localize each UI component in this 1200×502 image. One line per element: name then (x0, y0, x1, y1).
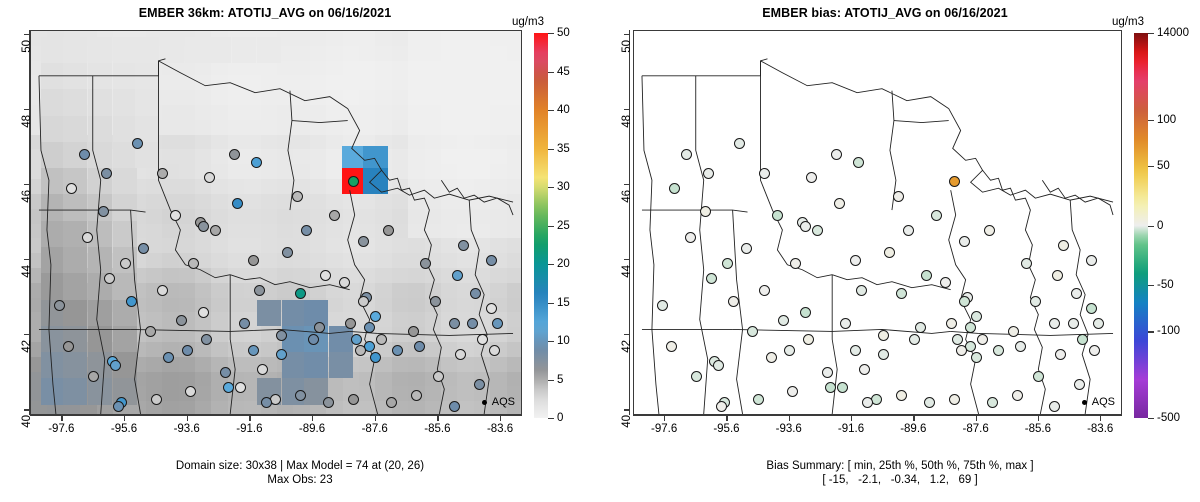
aqs-observation-point (853, 157, 864, 168)
colorbar-tick (548, 187, 554, 188)
bias-caption-line2: [ -15, -2.1, -0.34, 1.2, 69 ] (600, 473, 1200, 487)
aqs-observation-point (1058, 240, 1069, 251)
bias-aqs-label: AQS (1092, 396, 1115, 408)
aqs-observation-point (1086, 255, 1097, 266)
aqs-observation-point (959, 296, 970, 307)
aqs-observation-point (952, 334, 963, 345)
aqs-observation-point (772, 210, 783, 221)
aqs-observation-point (261, 397, 272, 408)
model-caption-line2: Max Obs: 23 (0, 473, 600, 487)
bias-x-axis-line (633, 415, 1122, 416)
aqs-observation-point (856, 285, 867, 296)
aqs-observation-point (408, 326, 419, 337)
y-axis-tick-label: 48 (21, 115, 33, 128)
y-axis-tick-label: 40 (621, 415, 633, 428)
bias-y-axis-line (629, 30, 630, 415)
aqs-observation-point (716, 401, 727, 412)
panel-model-title: EMBER 36km: ATOTIJ_AVG on 06/16/2021 (0, 6, 530, 20)
aqs-observation-point (145, 326, 156, 337)
bias-colorbar-gradient (1134, 33, 1148, 418)
colorbar-tick-label: 50 (1157, 160, 1170, 172)
aqs-observation-point (292, 191, 303, 202)
aqs-observation-point (151, 394, 162, 405)
bias-caption-line1: Bias Summary: [ min, 25th %, 50th %, 75t… (600, 459, 1200, 473)
y-axis-tick (24, 409, 30, 410)
model-map-plot[interactable]: AQS (30, 30, 522, 415)
colorbar-tick (548, 72, 554, 73)
aqs-observation-point (691, 371, 702, 382)
aqs-observation-point (1052, 270, 1063, 281)
model-aqs-legend: AQS (482, 396, 515, 408)
colorbar-tick (548, 264, 554, 265)
model-aqs-label: AQS (492, 396, 515, 408)
aqs-observation-point (949, 176, 960, 187)
y-axis-tick-label: 48 (621, 115, 633, 128)
aqs-observation-point (949, 394, 960, 405)
y-axis-tick (24, 34, 30, 35)
aqs-observation-point (355, 345, 366, 356)
y-axis-tick (24, 184, 30, 185)
colorbar-tick-label: -500 (1157, 412, 1180, 424)
y-axis-tick-label: 42 (621, 340, 633, 353)
aqs-observation-point (120, 258, 131, 269)
aqs-observation-point (766, 352, 777, 363)
x-axis-tick (249, 415, 250, 421)
y-axis-tick-label: 44 (621, 265, 633, 278)
aqs-dot-icon (482, 400, 487, 405)
x-axis-tick (124, 415, 125, 421)
colorbar-tick (1148, 33, 1154, 34)
y-axis-tick-label: 46 (21, 190, 33, 203)
y-axis-tick (624, 334, 630, 335)
colorbar-tick (548, 33, 554, 34)
aqs-observation-point (489, 345, 500, 356)
aqs-observation-point (276, 330, 287, 341)
colorbar-tick-label: 15 (557, 297, 570, 309)
colorbar-tick (548, 418, 554, 419)
aqs-observation-point (248, 255, 259, 266)
aqs-observation-point (276, 349, 287, 360)
y-axis-tick (624, 184, 630, 185)
aqs-observation-point (254, 285, 265, 296)
aqs-observation-point (909, 334, 920, 345)
colorbar-tick (1148, 331, 1154, 332)
aqs-observation-point (822, 367, 833, 378)
aqs-observation-point (82, 232, 93, 243)
colorbar-tick (1148, 120, 1154, 121)
x-axis-tick (976, 415, 977, 421)
x-axis-tick (375, 415, 376, 421)
aqs-observation-point (800, 307, 811, 318)
y-axis-tick-label: 42 (21, 340, 33, 353)
panel-bias: EMBER bias: ATOTIJ_AVG on 06/16/2021 (600, 0, 1200, 502)
aqs-observation-point (977, 334, 988, 345)
aqs-observation-point (308, 334, 319, 345)
x-axis-tick-label: -83.6 (1087, 423, 1113, 435)
aqs-observation-point (110, 360, 121, 371)
bias-aqs-legend: AQS (1082, 396, 1115, 408)
aqs-observation-point (270, 394, 281, 405)
aqs-observation-point (54, 300, 65, 311)
colorbar-tick-label: -100 (1157, 325, 1180, 337)
x-axis-tick (851, 415, 852, 421)
colorbar-tick-label: 35 (557, 143, 570, 155)
aqs-observation-point (778, 315, 789, 326)
aqs-observation-point (329, 210, 340, 221)
aqs-observation-point (803, 334, 814, 345)
aqs-observation-point (411, 390, 422, 401)
y-axis-tick (624, 259, 630, 260)
aqs-observation-point (157, 285, 168, 296)
x-axis-tick-label: -93.6 (776, 423, 802, 435)
aqs-observation-point (666, 341, 677, 352)
aqs-observation-point (430, 296, 441, 307)
colorbar-tick-label: 40 (557, 104, 570, 116)
colorbar-tick-label: 0 (557, 412, 563, 424)
aqs-observation-point (903, 225, 914, 236)
aqs-observation-point (1074, 379, 1085, 390)
aqs-observation-point (251, 157, 262, 168)
colorbar-tick-label: 0 (1157, 220, 1163, 232)
x-axis-tick-label: -85.6 (1025, 423, 1051, 435)
colorbar-tick-label: 45 (557, 66, 570, 78)
y-axis-tick (624, 34, 630, 35)
model-caption-line1: Domain size: 30x38 | Max Model = 74 at (… (0, 459, 600, 473)
y-axis-tick (624, 409, 630, 410)
x-axis-tick-label: -87.6 (963, 423, 989, 435)
colorbar-tick (548, 149, 554, 150)
aqs-observation-point (182, 345, 193, 356)
x-axis-tick (1038, 415, 1039, 421)
colorbar-tick (548, 341, 554, 342)
colorbar-tick-label: 30 (557, 181, 570, 193)
aqs-observation-point (959, 236, 970, 247)
aqs-observation-point (1055, 349, 1066, 360)
aqs-observation-point (198, 307, 209, 318)
aqs-observation-point (1015, 341, 1026, 352)
aqs-observation-point (364, 341, 375, 352)
x-axis-tick (312, 415, 313, 421)
aqs-observation-point (201, 334, 212, 345)
aqs-observation-point (198, 221, 209, 232)
colorbar-tick-label: 5 (557, 374, 563, 386)
x-axis-tick-label: -97.6 (651, 423, 677, 435)
aqs-observation-point (1049, 401, 1060, 412)
bias-map-plot[interactable]: AQS (633, 30, 1122, 415)
aqs-observation-point (993, 345, 1004, 356)
colorbar-tick (1148, 418, 1154, 419)
panel-model: EMBER 36km: ATOTIJ_AVG on 06/16/2021 (0, 0, 600, 502)
aqs-observation-point (449, 318, 460, 329)
x-axis-tick-label: -89.6 (900, 423, 926, 435)
x-axis-tick (61, 415, 62, 421)
aqs-observation-point (1077, 334, 1088, 345)
aqs-observation-point (358, 296, 369, 307)
x-axis-tick (789, 415, 790, 421)
aqs-observation-point (348, 176, 359, 187)
x-axis-tick (187, 415, 188, 421)
aqs-observation-point (747, 326, 758, 337)
aqs-observation-point (474, 379, 485, 390)
x-axis-tick (500, 415, 501, 421)
y-axis-tick (24, 259, 30, 260)
x-axis-tick-label: -91.6 (236, 423, 262, 435)
aqs-observation-point (455, 349, 466, 360)
aqs-observation-point (850, 255, 861, 266)
model-colorbar-unit: ug/m3 (512, 16, 544, 28)
model-y-axis-line (29, 30, 30, 415)
model-x-axis: -97.6-95.6-93.6-91.6-89.6-87.6-85.6-83.6 (30, 415, 522, 445)
aqs-observation-point (871, 394, 882, 405)
aqs-observation-point (859, 364, 870, 375)
aqs-observation-point (348, 394, 359, 405)
colorbar-tick (1148, 166, 1154, 167)
y-axis-tick-label: 50 (21, 40, 33, 53)
aqs-observation-point (358, 236, 369, 247)
x-axis-tick-label: -89.6 (299, 423, 325, 435)
colorbar-tick-label: -50 (1157, 279, 1174, 291)
colorbar-tick (548, 380, 554, 381)
model-x-axis-line (30, 415, 522, 416)
aqs-observation-point (713, 360, 724, 371)
aqs-observation-point (971, 311, 982, 322)
colorbar-tick (548, 226, 554, 227)
aqs-observation-point (351, 334, 362, 345)
aqs-observation-point (126, 296, 137, 307)
x-axis-tick-label: -87.6 (362, 423, 388, 435)
aqs-observation-point (893, 191, 904, 202)
colorbar-tick (1148, 226, 1154, 227)
colorbar-tick (548, 110, 554, 111)
x-axis-tick-label: -97.6 (48, 423, 74, 435)
aqs-observation-point (931, 210, 942, 221)
aqs-observation-point (449, 401, 460, 412)
aqs-observation-point (850, 345, 861, 356)
aqs-observation-point (884, 247, 895, 258)
bias-panel-title: EMBER bias: ATOTIJ_AVG on 06/16/2021 (620, 6, 1150, 20)
x-axis-tick (913, 415, 914, 421)
aqs-observation-point (486, 255, 497, 266)
aqs-observation-point (458, 240, 469, 251)
aqs-observation-point (383, 225, 394, 236)
aqs-observation-point (414, 341, 425, 352)
colorbar-tick-label: 100 (1157, 114, 1176, 126)
aqs-observation-point (210, 225, 221, 236)
aqs-observation-point (1012, 390, 1023, 401)
aqs-observation-point (295, 390, 306, 401)
x-axis-tick (437, 415, 438, 421)
x-axis-tick (726, 415, 727, 421)
y-axis-tick-label: 50 (621, 40, 633, 53)
aqs-observation-point (700, 206, 711, 217)
aqs-observation-point (921, 270, 932, 281)
model-y-axis: 404244464850 (0, 30, 30, 415)
colorbar-tick-label: 20 (557, 258, 570, 270)
aqs-observation-point (176, 315, 187, 326)
x-axis-tick (664, 415, 665, 421)
aqs-observation-point (759, 285, 770, 296)
x-axis-tick-label: -83.6 (487, 423, 513, 435)
aqs-observation-point (753, 394, 764, 405)
aqs-observation-point (784, 345, 795, 356)
aqs-observation-point (433, 371, 444, 382)
aqs-observation-point (878, 330, 889, 341)
aqs-observation-point (170, 210, 181, 221)
aqs-observation-point (477, 334, 488, 345)
x-axis-tick (1100, 415, 1101, 421)
aqs-dot-icon (1082, 400, 1087, 405)
aqs-observation-point (257, 364, 268, 375)
bias-colorbar-unit: ug/m3 (1112, 16, 1144, 28)
aqs-observation-point (987, 397, 998, 408)
bias-x-axis: -97.6-95.6-93.6-91.6-89.6-87.6-85.6-83.6 (633, 415, 1122, 445)
x-axis-tick-label: -95.6 (713, 423, 739, 435)
aqs-observation-point (376, 334, 387, 345)
model-caption: Domain size: 30x38 | Max Model = 74 at (… (0, 459, 600, 487)
x-axis-tick-label: -93.6 (174, 423, 200, 435)
aqs-observation-point (98, 206, 109, 217)
aqs-observation-point (248, 345, 259, 356)
aqs-observation-point (984, 225, 995, 236)
x-axis-tick-label: -85.6 (424, 423, 450, 435)
y-axis-tick (24, 109, 30, 110)
y-axis-tick-label: 44 (21, 265, 33, 278)
bias-caption: Bias Summary: [ min, 25th %, 50th %, 75t… (600, 459, 1200, 487)
aqs-observation-point (878, 349, 889, 360)
aqs-observation-point (314, 322, 325, 333)
aqs-observation-point (301, 225, 312, 236)
aqs-observation-point (339, 277, 350, 288)
aqs-observation-point (320, 270, 331, 281)
aqs-observation-point (685, 232, 696, 243)
aqs-observation-point (741, 243, 752, 254)
aqs-observation-point (812, 225, 823, 236)
colorbar-tick (1148, 285, 1154, 286)
model-colorbar-gradient (534, 33, 548, 418)
colorbar-tick-label: 14000 (1157, 27, 1189, 39)
colorbar-tick-label: 10 (557, 335, 570, 347)
colorbar-tick (548, 303, 554, 304)
aqs-observation-point (452, 270, 463, 281)
colorbar-tick-label: 25 (557, 220, 570, 232)
colorbar-tick-label: 50 (557, 27, 570, 39)
x-axis-tick-label: -95.6 (111, 423, 137, 435)
aqs-observation-point (956, 345, 967, 356)
x-axis-tick-label: -91.6 (838, 423, 864, 435)
y-axis-tick-label: 46 (621, 190, 633, 203)
aqs-observation-point (800, 221, 811, 232)
y-axis-tick (624, 109, 630, 110)
y-axis-tick (24, 334, 30, 335)
aqs-observation-point (806, 172, 817, 183)
aqs-observation-point (101, 168, 112, 179)
aqs-observation-point (657, 300, 668, 311)
aqs-observation-point (825, 382, 836, 393)
aqs-observation-point (392, 345, 403, 356)
bias-y-axis: 404244464850 (600, 30, 630, 415)
